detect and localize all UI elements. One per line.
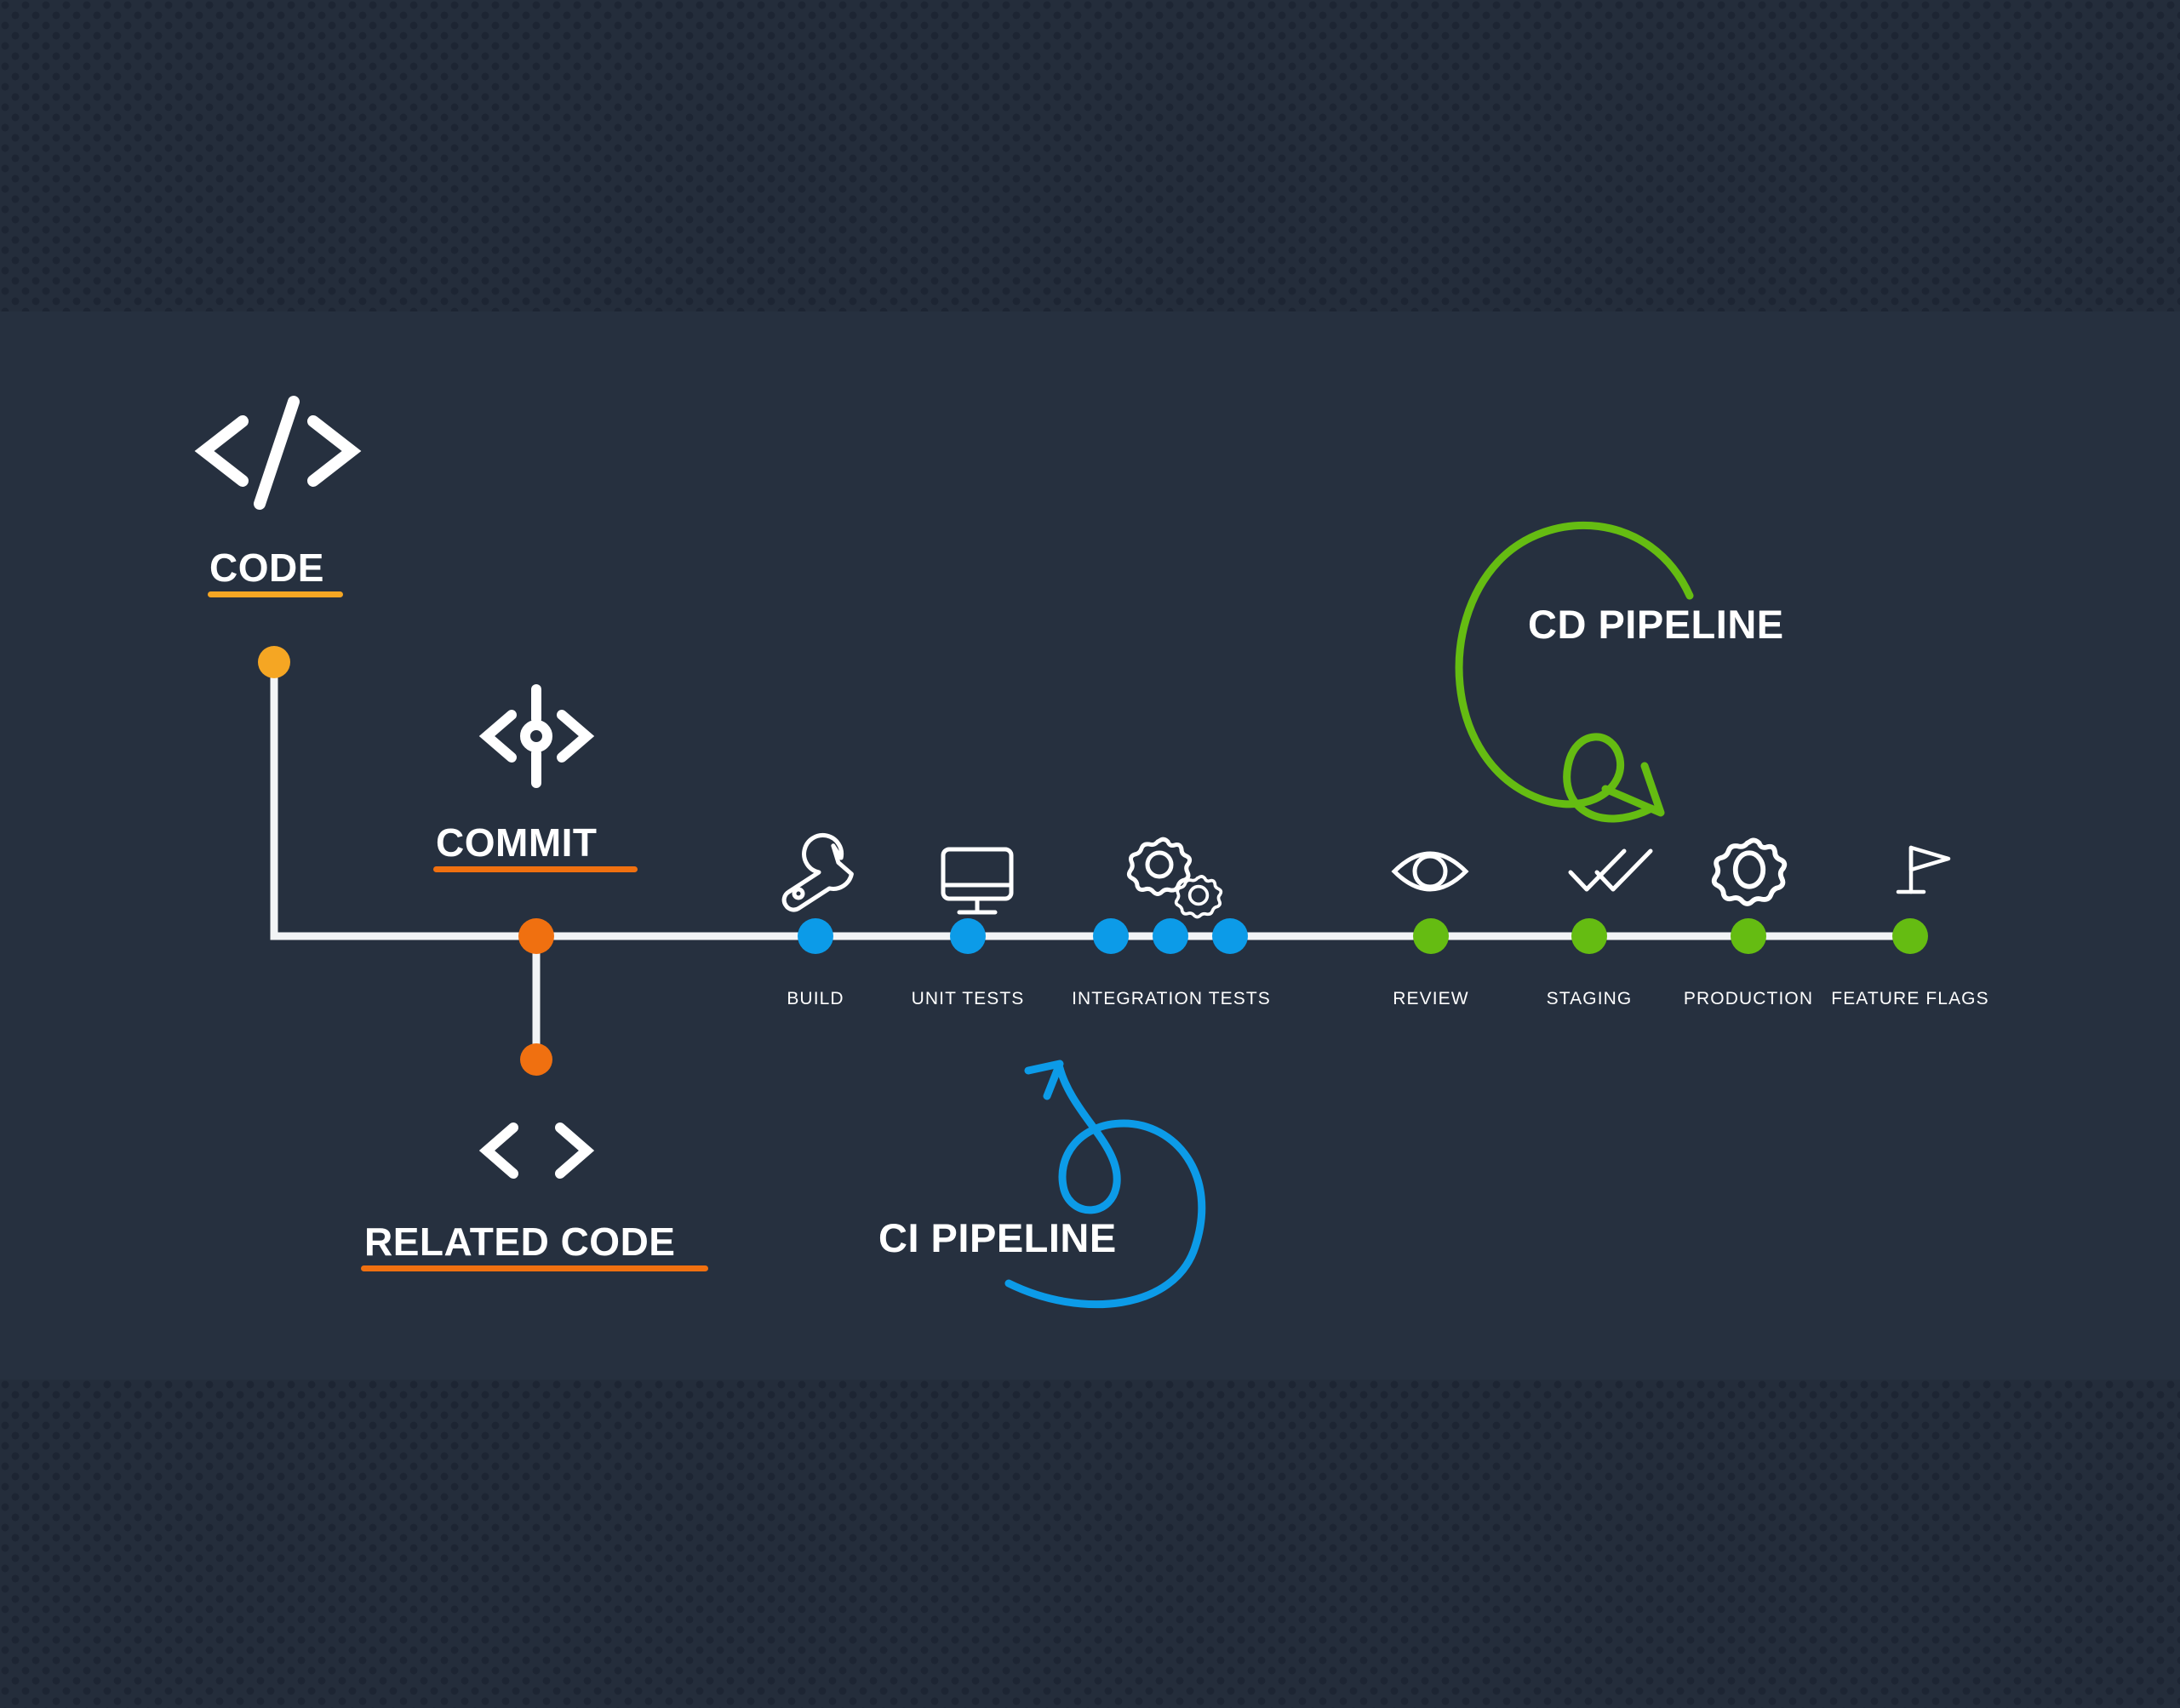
node-feature-flags[interactable] [1892,918,1928,954]
cd-pipeline-arrow-icon [1459,525,1690,819]
stage-label-production: PRODUCTION [1684,989,1813,1009]
commit-label: COMMIT [436,820,598,865]
code-label: CODE [209,545,324,591]
flag-icon [1898,848,1948,892]
stage-label-build: BUILD [787,989,844,1009]
node-review[interactable] [1413,918,1449,954]
eye-icon [1394,854,1466,889]
stage-label-unit-tests: UNIT TESTS [912,989,1025,1009]
stage-label-staging: STAGING [1547,989,1633,1009]
node-integration-tests-1[interactable] [1093,918,1129,954]
code-brackets-slash-icon [204,402,352,504]
stage-label-integration-tests: INTEGRATION TESTS [1072,989,1271,1009]
gears-icon [1129,839,1221,917]
related-code-label: RELATED CODE [364,1219,676,1265]
pipeline-graphics [0,0,2180,1708]
node-code[interactable] [258,646,290,678]
ci-pipeline-arrow-icon [1009,1064,1202,1305]
code-underline [208,591,343,597]
wrench-icon [782,830,858,920]
gear-icon [1714,840,1785,904]
main-timeline-path [274,672,1911,936]
node-staging[interactable] [1571,918,1607,954]
node-related-code[interactable] [520,1043,552,1076]
diagram-canvas: CODE COMMIT RELATED CODE BUILD UNIT TEST… [0,0,2180,1708]
node-integration-tests-3[interactable] [1212,918,1248,954]
double-check-icon [1571,851,1651,889]
node-build[interactable] [798,918,833,954]
node-commit[interactable] [518,918,554,954]
stage-label-feature-flags: FEATURE FLAGS [1831,989,1988,1009]
commit-underline [433,866,638,872]
code-brackets-commit-icon [487,689,586,783]
node-unit-tests[interactable] [950,918,986,954]
monitor-icon [943,849,1011,912]
code-brackets-icon [487,1128,586,1174]
cd-pipeline-label: CD PIPELINE [1528,601,1784,648]
node-production[interactable] [1731,918,1766,954]
node-integration-tests-2[interactable] [1153,918,1188,954]
stage-label-review: REVIEW [1393,989,1468,1009]
ci-pipeline-label: CI PIPELINE [878,1214,1117,1261]
related-code-underline [361,1265,708,1271]
